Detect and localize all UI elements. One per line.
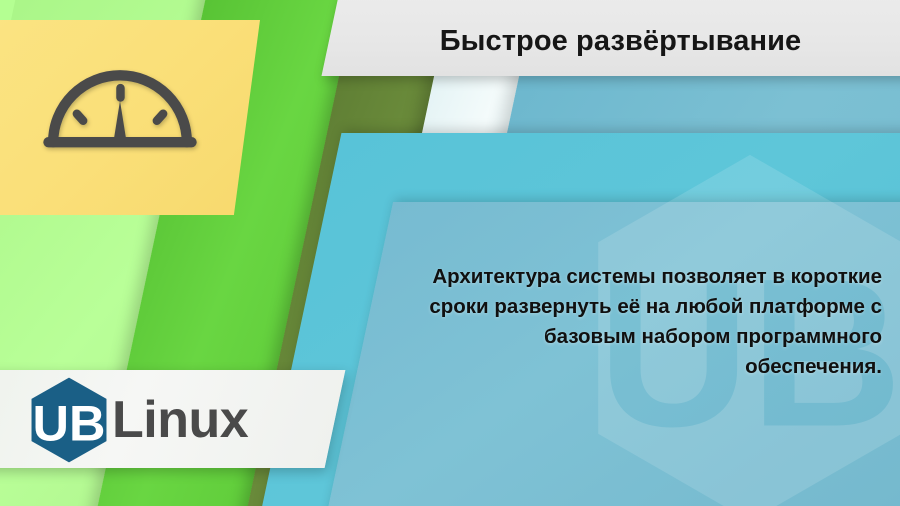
slide-title: Быстрое развёртывание (348, 16, 893, 66)
slide-canvas: UB Быстрое развёртывание Архитектура сис… (0, 0, 900, 506)
gauge-icon (40, 55, 200, 155)
ub-hexagon-icon: UB (28, 376, 110, 464)
svg-text:UB: UB (33, 394, 106, 451)
logo-wordmark: Linux (112, 394, 248, 446)
slide-body-text: Архитектура системы позволяет в короткие… (420, 262, 882, 383)
brand-logo: UB Linux (28, 376, 248, 464)
